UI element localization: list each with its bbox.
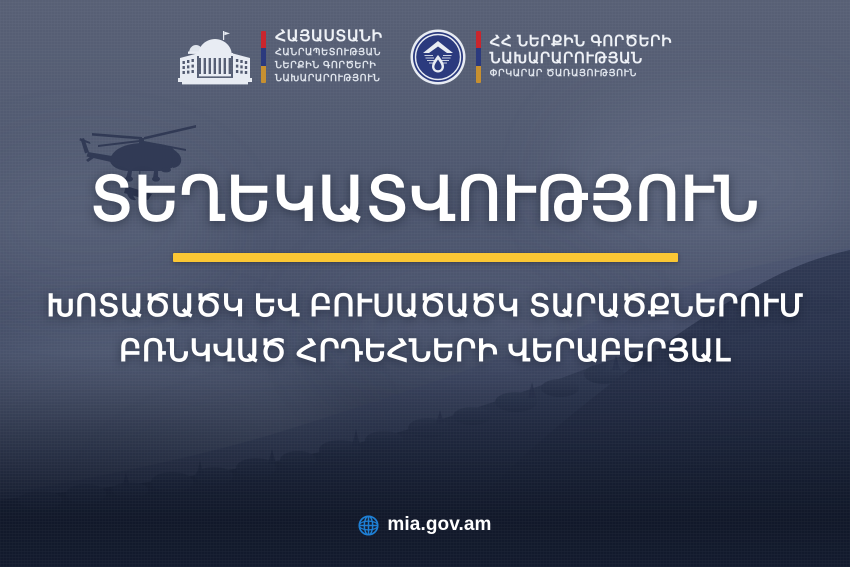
rescue-logo-line-primary-2: ՆԱԽԱՐԱՐՈՒԹՅԱՆ [490,50,672,67]
footer-website[interactable]: mia.gov.am [0,514,850,536]
mia-logo-text: ՀԱՅԱՍՏԱՆԻ ՀԱՆՐԱՊԵՏՈՒԹՅԱՆ ՆԵՐՔԻՆ ԳՈՐԾԵՐԻ … [275,28,383,85]
subtitle-line-1: ԽՈՏԱԾԱԾԿ ԵՎ ԲՈՒՍԱԾԱԾԿ ՏԱՐԱԾՔՆԵՐՈՒՄ [0,284,850,329]
yellow-divider [173,253,678,262]
page-subtitle: ԽՈՏԱԾԱԾԿ ԵՎ ԲՈՒՍԱԾԱԾԿ ՏԱՐԱԾՔՆԵՐՈՒՄ ԲՌՆԿՎ… [0,284,850,374]
mia-logo-line-primary: ՀԱՅԱՍՏԱՆԻ [275,28,383,45]
header-logo-row: ՀԱՅԱՍՏԱՆԻ ՀԱՆՐԱՊԵՏՈՒԹՅԱՆ ՆԵՐՔԻՆ ԳՈՐԾԵՐԻ … [0,28,850,86]
rescue-service-logo-text: ՀՀ ՆԵՐՔԻՆ ԳՈՐԾԵՐԻ ՆԱԽԱՐԱՐՈՒԹՅԱՆ ՓՐԿԱՐԱՐ … [490,33,672,80]
page-title: ՏԵՂԵԿԱՏՎՈՒԹՅՈՒՆ [0,168,850,231]
mia-logo-line-4: ՆԱԽԱՐԱՐՈՒԹՅՈՒՆ [275,72,383,85]
government-building-icon [178,28,252,86]
mia-logo-line-2: ՀԱՆՐԱՊԵՏՈՒԹՅԱՆ [275,46,383,59]
rescue-service-logo: ՀՀ ՆԵՐՔԻՆ ԳՈՐԾԵՐԻ ՆԱԽԱՐԱՐՈՒԹՅԱՆ ՓՐԿԱՐԱՐ … [409,28,672,86]
headline-block: ՏԵՂԵԿԱՏՎՈՒԹՅՈՒՆ ԽՈՏԱԾԱԾԿ ԵՎ ԲՈՒՍԱԾԱԾԿ ՏԱ… [0,168,850,374]
globe-icon [358,515,379,536]
poster-canvas: ՀԱՅԱՍՏԱՆԻ ՀԱՆՐԱՊԵՏՈՒԹՅԱՆ ՆԵՐՔԻՆ ԳՈՐԾԵՐԻ … [0,0,850,567]
rescue-service-emblem-icon [409,28,467,86]
rescue-logo-line-primary: ՀՀ ՆԵՐՔԻՆ ԳՈՐԾԵՐԻ [490,33,672,50]
rescue-logo-line-secondary: ՓՐԿԱՐԱՐ ԾԱՌԱՅՈՒԹՅՈՒՆ [490,67,672,80]
mia-logo: ՀԱՅԱՍՏԱՆԻ ՀԱՆՐԱՊԵՏՈՒԹՅԱՆ ՆԵՐՔԻՆ ԳՈՐԾԵՐԻ … [178,28,383,86]
armenian-flag-bar [476,31,481,83]
subtitle-line-2: ԲՌՆԿՎԱԾ ՀՐԴԵՀՆԵՐԻ ՎԵՐԱԲԵՐՅԱԼ [0,329,850,374]
website-url[interactable]: mia.gov.am [387,514,491,536]
mia-logo-line-3: ՆԵՐՔԻՆ ԳՈՐԾԵՐԻ [275,59,383,72]
armenian-flag-bar [261,31,266,83]
